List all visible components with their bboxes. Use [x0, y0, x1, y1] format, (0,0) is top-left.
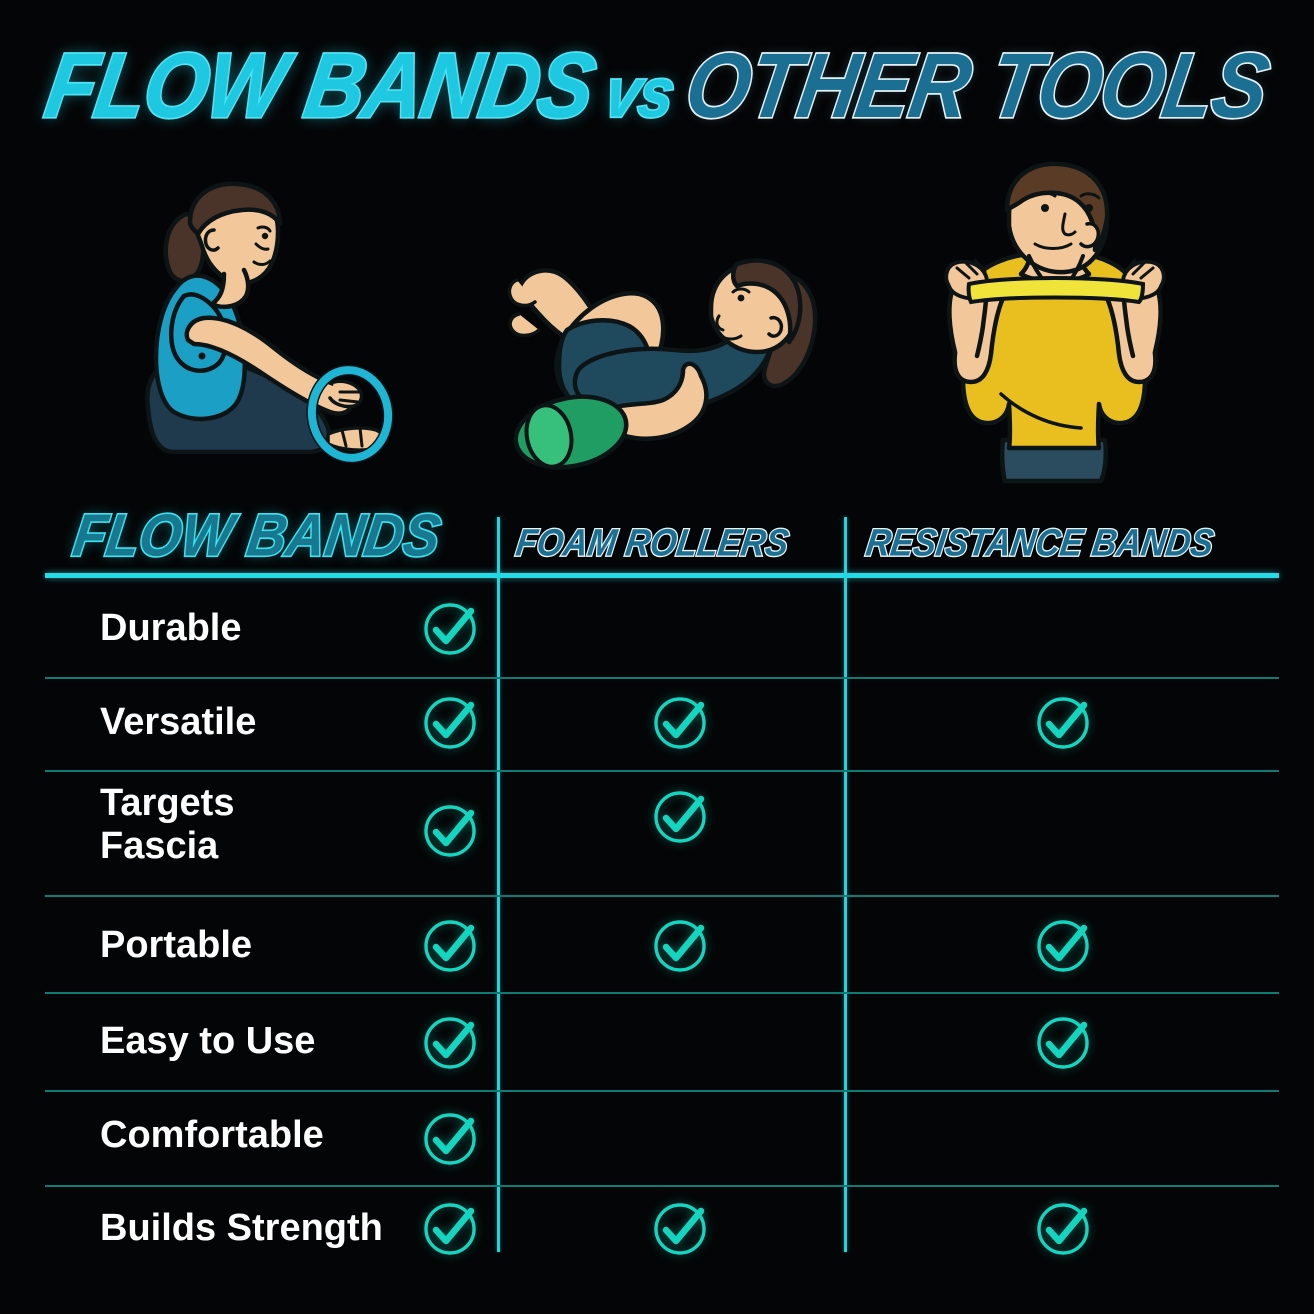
column-header-resistance-bands: RESISTANCE BANDS: [864, 524, 1216, 562]
row-label-targets-fascia: Targets Fascia: [100, 782, 234, 867]
check-circle-icon-versatile-flow: [421, 694, 479, 752]
comparison-table: FLOW BANDS FOAM ROLLERS RESISTANCE BANDS…: [0, 0, 1314, 1314]
check-circle-icon-builds-strength-flow: [421, 1200, 479, 1258]
row-divider-4: [45, 992, 1279, 994]
column-header-flow-bands: FLOW BANDS: [70, 506, 444, 565]
row-divider-1: [45, 677, 1279, 679]
row-divider-3: [45, 895, 1279, 897]
check-circle-icon-builds-strength-foam: [651, 1200, 709, 1258]
column-divider-2: [844, 517, 847, 1252]
check-circle-icon-portable-resistance: [1034, 917, 1092, 975]
row-divider-5: [45, 1090, 1279, 1092]
check-circle-icon-portable-flow: [421, 917, 479, 975]
column-header-foam-rollers: FOAM ROLLERS: [514, 524, 791, 562]
check-circle-icon-versatile-resistance: [1034, 694, 1092, 752]
check-circle-icon-comfortable-flow: [421, 1110, 479, 1168]
check-circle-icon-builds-strength-resistance: [1034, 1200, 1092, 1258]
check-circle-icon-easy-to-use-resistance: [1034, 1014, 1092, 1072]
row-label-comfortable: Comfortable: [100, 1114, 324, 1157]
check-circle-icon-portable-foam: [651, 917, 709, 975]
check-circle-icon-targets-fascia-foam: [651, 788, 709, 846]
infographic-canvas: FLOW BANDSvsOTHER TOOLS: [0, 0, 1314, 1314]
check-circle-icon-easy-to-use-flow: [421, 1014, 479, 1072]
row-label-easy-to-use: Easy to Use: [100, 1020, 315, 1063]
row-divider-2: [45, 770, 1279, 772]
check-circle-icon-versatile-foam: [651, 694, 709, 752]
check-circle-icon-durable-flow: [421, 600, 479, 658]
row-divider-6: [45, 1185, 1279, 1187]
check-circle-icon-targets-fascia-flow: [421, 802, 479, 860]
row-label-versatile: Versatile: [100, 701, 256, 744]
row-label-portable: Portable: [100, 924, 252, 967]
column-divider-1: [497, 517, 500, 1252]
table-header-divider: [45, 573, 1279, 578]
row-label-durable: Durable: [100, 607, 241, 650]
row-label-builds-strength: Builds Strength: [100, 1207, 383, 1250]
